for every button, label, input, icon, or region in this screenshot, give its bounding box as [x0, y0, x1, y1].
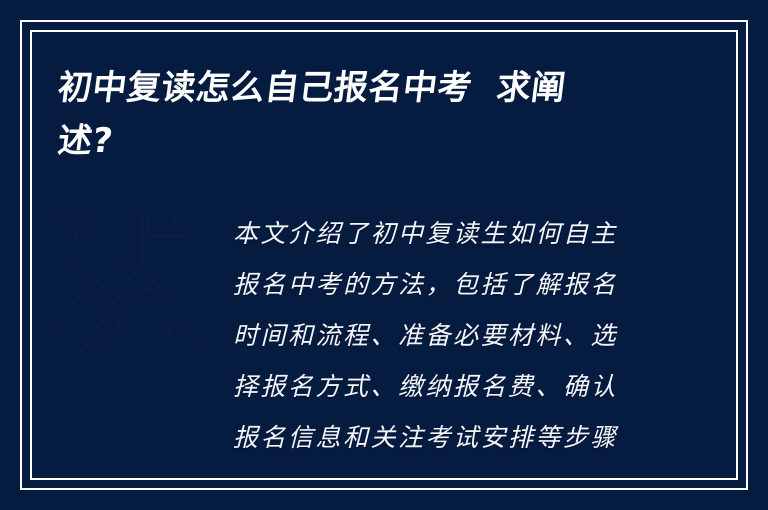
summary-line-1: 本文介绍了初中复读生如何自主: [233, 208, 653, 259]
summary-line-3: 时间和流程、准备必要材料、选: [233, 310, 653, 361]
article-cover-card: 初中复读怎么自己报名中考 求阐 述?: [0, 0, 768, 510]
title-line-2: 述?: [55, 115, 662, 168]
page-title: 初中复读怎么自己报名中考 求阐 述?: [58, 62, 658, 168]
bird-icon: [104, 258, 126, 261]
sun-icon: [59, 205, 93, 239]
summary-line-4: 择报名方式、缴纳报名费、确认: [233, 361, 653, 412]
mountain-summit-flag-illustration: [52, 192, 232, 372]
summary-line-2: 报名中考的方法，包括了解报名: [233, 259, 653, 310]
bird-icon: [68, 268, 86, 271]
title-line-1: 初中复读怎么自己报名中考 求阐: [55, 62, 662, 115]
summary-line-5: 报名信息和关注考试安排等步骤: [233, 412, 653, 463]
article-summary: 本文介绍了初中复读生如何自主 报名中考的方法，包括了解报名 时间和流程、准备必要…: [233, 208, 653, 463]
flag-icon: [142, 212, 190, 262]
mountain-peak-large: [78, 262, 205, 356]
